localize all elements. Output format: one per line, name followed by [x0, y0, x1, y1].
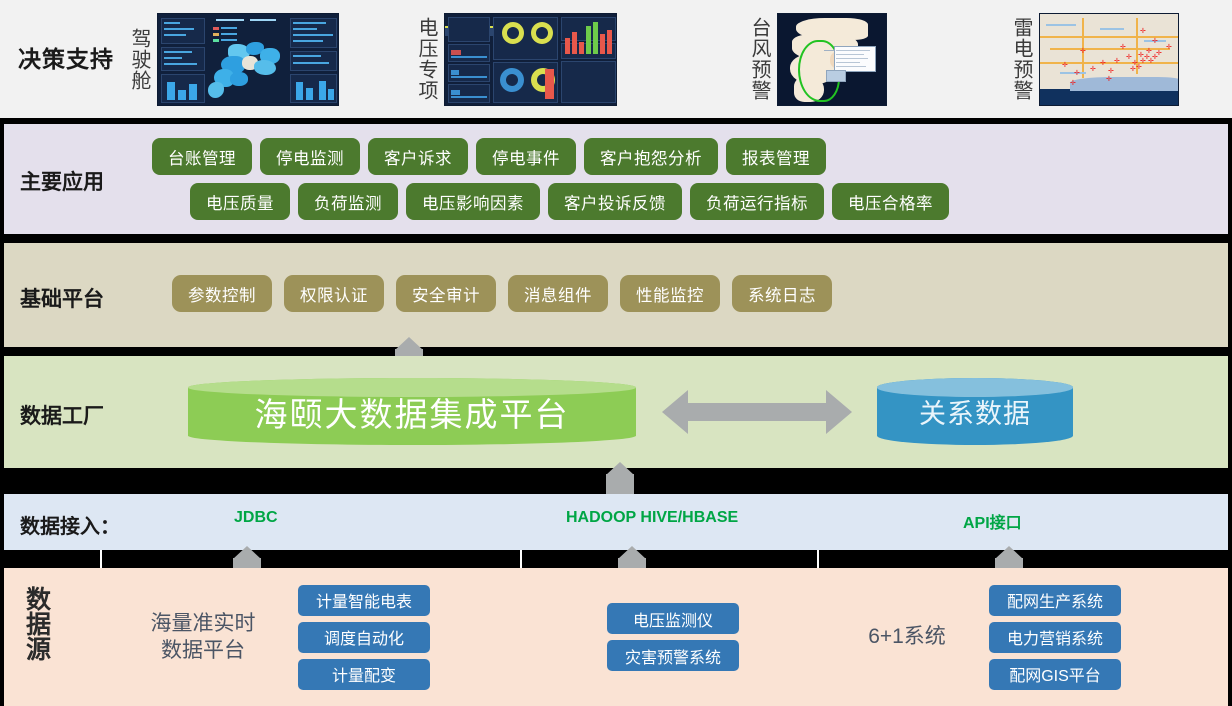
source-column-1-name-line2: 数据平台 [108, 637, 298, 664]
thumbnail-group-cockpit[interactable]: 驾驶舱 [128, 6, 339, 112]
source-column-monitoring: 电压监测仪 灾害预警系统 [528, 568, 818, 706]
app-pill-customer-demand[interactable]: 客户诉求 [368, 138, 468, 175]
thumbnail-label-typhoon: 台风预警 [748, 17, 769, 101]
decision-support-band: 决策支持 驾驶舱 [0, 0, 1232, 118]
row-label-decision-support: 决策支持 [18, 40, 114, 74]
source-btn-distribution-production[interactable]: 配网生产系统 [989, 585, 1121, 616]
row-label-main-applications: 主要应用 [20, 166, 104, 196]
source-column-realtime-platform: 海量准实时 数据平台 计量智能电表 调度自动化 计量配变 [108, 568, 522, 706]
access-item-jdbc[interactable]: JDBC [234, 509, 278, 527]
thumbnail-label-lightning: 雷电预警 [1010, 17, 1031, 101]
base-pill-security-audit[interactable]: 安全审计 [396, 275, 496, 312]
base-pill-system-log[interactable]: 系统日志 [732, 275, 832, 312]
app-pill-outage-events[interactable]: 停电事件 [476, 138, 576, 175]
source-btn-voltage-monitor[interactable]: 电压监测仪 [607, 603, 739, 634]
architecture-diagram: 决策支持 驾驶舱 [0, 0, 1232, 706]
source-btn-smart-meter[interactable]: 计量智能电表 [298, 585, 430, 616]
row-label-data-access: 数据接入： [20, 510, 120, 539]
typhoon-warning-map-thumbnail[interactable] [777, 13, 887, 106]
app-pill-complaint-analysis[interactable]: 客户抱怨分析 [584, 138, 718, 175]
main-applications-row-1: 台账管理 停电监测 客户诉求 停电事件 客户抱怨分析 报表管理 [152, 138, 1222, 175]
data-source-band: 数据源 海量准实时 数据平台 计量智能电表 调度自动化 计量配变 电压监测仪 灾… [4, 568, 1228, 706]
source-btn-disaster-warning[interactable]: 灾害预警系统 [607, 640, 739, 671]
main-applications-row-2: 电压质量 负荷监测 电压影响因素 客户投诉反馈 负荷运行指标 电压合格率 [152, 183, 1222, 220]
app-pill-voltage-factors[interactable]: 电压影响因素 [406, 183, 540, 220]
row-label-base-platform: 基础平台 [20, 283, 104, 313]
base-platform-band: 基础平台 参数控制 权限认证 安全审计 消息组件 性能监控 系统日志 [4, 243, 1228, 347]
source-btn-distribution-gis[interactable]: 配网GIS平台 [989, 659, 1121, 690]
source-column-1-buttons: 计量智能电表 调度自动化 计量配变 [298, 585, 430, 690]
base-platform-pills: 参数控制 权限认证 安全审计 消息组件 性能监控 系统日志 [172, 275, 1222, 320]
thumbnail-group-typhoon[interactable]: 台风预警 [748, 6, 887, 112]
main-applications-band: 主要应用 台账管理 停电监测 客户诉求 停电事件 客户抱怨分析 报表管理 电压质… [4, 124, 1228, 234]
row-label-data-source: 数据源 [22, 586, 49, 661]
app-pill-outage-monitoring[interactable]: 停电监测 [260, 138, 360, 175]
source-column-1-name: 海量准实时 数据平台 [108, 610, 298, 665]
up-arrow-icon-source-col1 [223, 546, 271, 570]
base-pill-permission-auth[interactable]: 权限认证 [284, 275, 384, 312]
thumbnail-label-cockpit: 驾驶舱 [128, 28, 149, 91]
base-pill-parameter-control[interactable]: 参数控制 [172, 275, 272, 312]
relational-data-label: 关系数据 [919, 392, 1031, 431]
app-pill-ledger-management[interactable]: 台账管理 [152, 138, 252, 175]
big-data-integration-platform-cylinder[interactable]: 海颐大数据集成平台 [188, 378, 636, 445]
app-pill-voltage-quality[interactable]: 电压质量 [190, 183, 290, 220]
relational-data-cylinder[interactable]: 关系数据 [877, 378, 1073, 445]
app-pill-load-monitoring[interactable]: 负荷监测 [298, 183, 398, 220]
big-data-platform-label: 海颐大数据集成平台 [255, 388, 570, 436]
voltage-dashboard-thumbnail[interactable] [444, 13, 617, 106]
source-btn-power-marketing[interactable]: 电力营销系统 [989, 622, 1121, 653]
source-column-3-buttons: 配网生产系统 电力营销系统 配网GIS平台 [989, 585, 1121, 690]
thumbnail-group-lightning[interactable]: 雷电预警 ✛ ✛ ✛ ✛ ✛ ✛ ✛ ✛ ✛ [1010, 6, 1179, 112]
app-pill-report-management[interactable]: 报表管理 [726, 138, 826, 175]
main-applications-pills: 台账管理 停电监测 客户诉求 停电事件 客户抱怨分析 报表管理 电压质量 负荷监… [152, 138, 1222, 228]
dashboard-cockpit-thumbnail[interactable] [157, 13, 339, 106]
app-pill-load-indicators[interactable]: 负荷运行指标 [690, 183, 824, 220]
up-arrow-icon-access-to-factory [594, 462, 646, 498]
up-arrow-icon-source-col2 [608, 546, 656, 570]
base-pill-performance-monitor[interactable]: 性能监控 [620, 275, 720, 312]
data-factory-band: 数据工厂 海颐大数据集成平台 关系数据 [4, 356, 1228, 468]
source-btn-metering-transformer[interactable]: 计量配变 [298, 659, 430, 690]
data-access-band: 数据接入： JDBC HADOOP HIVE/HBASE API接口 [4, 494, 1228, 550]
base-platform-row: 参数控制 权限认证 安全审计 消息组件 性能监控 系统日志 [172, 275, 1222, 312]
access-item-api[interactable]: API接口 [963, 509, 1022, 533]
base-pill-message-component[interactable]: 消息组件 [508, 275, 608, 312]
up-arrow-icon-source-col3 [985, 546, 1033, 570]
row-label-data-factory: 数据工厂 [20, 400, 104, 430]
source-column-six-plus-one: 6+1系统 配网生产系统 电力营销系统 配网GIS平台 [825, 568, 1225, 706]
app-pill-complaint-feedback[interactable]: 客户投诉反馈 [548, 183, 682, 220]
thumbnail-label-voltage: 电压专项 [415, 17, 436, 101]
double-headed-arrow-icon-store-exchange [662, 390, 852, 434]
access-item-hadoop[interactable]: HADOOP HIVE/HBASE [566, 509, 738, 527]
thumbnail-group-voltage[interactable]: 电压专项 [415, 6, 617, 112]
app-pill-voltage-pass-rate[interactable]: 电压合格率 [832, 183, 949, 220]
lightning-warning-map-thumbnail[interactable]: ✛ ✛ ✛ ✛ ✛ ✛ ✛ ✛ ✛ ✛ ✛ ✛ ✛ ✛ ✛ ✛ ✛ ✛ ✛ ✛ [1039, 13, 1179, 106]
source-column-2-buttons: 电压监测仪 灾害预警系统 [607, 603, 739, 671]
source-column-1-name-line1: 海量准实时 [108, 610, 298, 637]
source-column-3-name: 6+1系统 [825, 623, 989, 650]
source-btn-dispatch-automation[interactable]: 调度自动化 [298, 622, 430, 653]
